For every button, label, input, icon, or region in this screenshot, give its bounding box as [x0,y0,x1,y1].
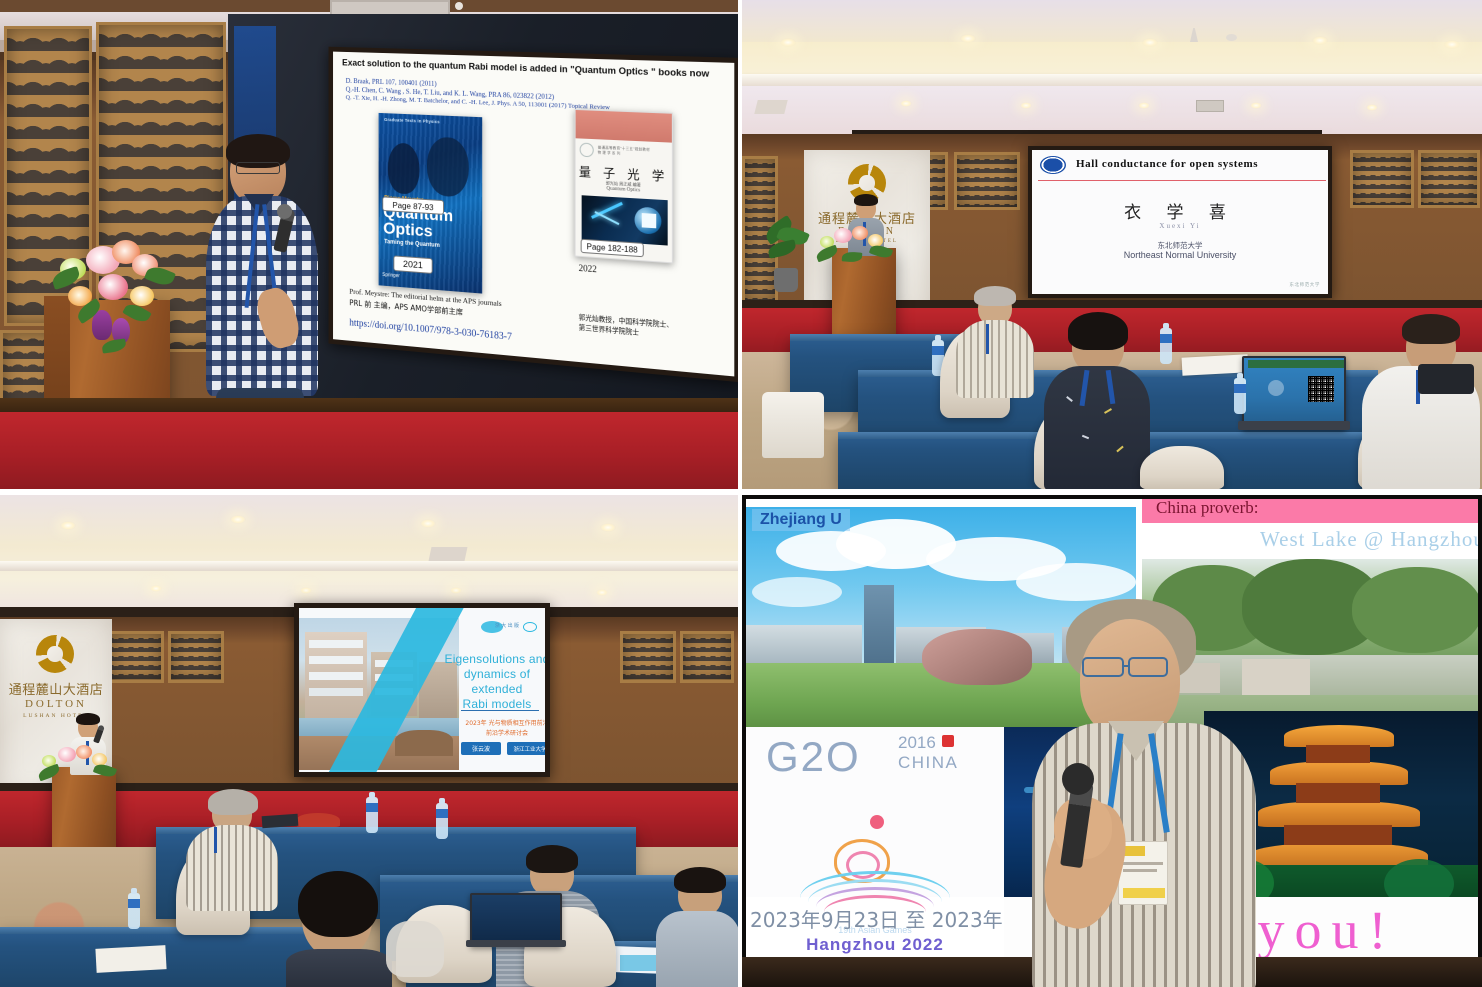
panel-top-left: Exact solution to the quantum Rabi model… [0,0,738,489]
slide-eigensolutions: 浙 大 出 版 Eigensolutions and dynamics of e… [299,608,545,772]
laptop-base [1238,421,1350,430]
water-bottle-4 [1234,378,1246,414]
label-china-proverb: China proverb: [1156,499,1258,518]
g20-logo-text: G2O [766,733,861,781]
glasses-icon [236,162,280,174]
stage-edge [0,398,738,412]
slide-tag-2: 浙江工业大学 [507,742,545,755]
photo-collage: Exact solution to the quantum Rabi model… [0,0,1482,987]
laptop-1[interactable] [1242,356,1346,430]
hotel-name-en-2: DOLTON [0,698,112,710]
red-fan-prop [296,813,340,827]
water-bottle-bl-3 [128,893,140,929]
ceiling-vent-3 [754,100,787,114]
brochure [620,955,660,971]
flower-arrangement-2 [814,226,898,270]
audience-2-hair [1068,312,1128,350]
slide-quantum-rabi: Exact solution to the quantum Rabi model… [333,52,734,377]
smoke-detector-icon-2 [1226,34,1237,41]
microphone-3-head [1062,763,1094,795]
laptop-screen [1244,358,1344,424]
glasses-icon-2 [1082,657,1124,677]
year-badge-left: 2021 [393,255,432,274]
slide-title: Exact solution to the quantum Rabi model… [342,58,734,81]
slide-subtitle-cn-2: 前沿学术研讨会 [459,728,545,737]
audience-bl-2 [272,867,404,987]
slide-footer: 东北师范大学 [1289,282,1320,288]
audience-bl-1-hair [208,789,258,815]
panel-bottom-left: 通程麓山大酒店 DOLTON LUSHAN HOTEL [0,489,738,987]
qr-code [1308,376,1334,402]
slide-hall-conductance: Hall conductance for open systems 衣 学 喜 … [1032,150,1328,294]
campus-rock [922,629,1032,685]
slide-doi-link[interactable]: https://doi.org/10.1007/978-3-030-76183-… [349,318,512,343]
slide-author-cn: 衣 学 喜 [1032,198,1328,223]
smoke-detector-icon [455,2,463,10]
university-logo-icon [1040,156,1066,174]
label-zhejiang-u: Zhejiang U [752,509,850,531]
slide-tag-1: 张云波 [461,742,501,755]
g20-year: 2016 [898,733,936,753]
flower-arrangement [46,240,206,380]
slide-title-line-1: Eigensolutions and [444,652,545,666]
flower-arrangement-3 [36,745,122,789]
water-bottle-bl-2 [436,803,448,839]
audience-bl-1 [186,791,278,911]
slide-title-line-2: dynamics of extended [464,667,530,696]
projection-screen-2: Hall conductance for open systems 衣 学 喜 … [1028,146,1332,298]
audience-bl-4 [656,873,738,987]
book-title-line-2: Optics [383,220,432,240]
slide-divider-2 [461,710,539,711]
audience-person-1 [956,290,1034,400]
camera-bag [1418,364,1474,394]
audience-person-2 [1044,318,1150,489]
pagoda-structure [1254,725,1424,875]
hotel-name-cn-2: 通程麓山大酒店 [0,679,112,698]
conference-logo-icon [523,622,537,632]
laptop-2[interactable] [470,893,562,947]
label-west-lake: West Lake @ Hangzhou [1260,527,1478,552]
ceiling-vent-2 [1196,100,1224,112]
glasses-icon-2-right [1128,657,1168,677]
red-carpet [0,412,738,489]
microphone-head [277,204,292,219]
projection-screen-3: 浙 大 出 版 Eigensolutions and dynamics of e… [294,603,550,777]
audience-bl-2-hair [298,871,378,937]
chair-4 [1140,446,1224,489]
asian-games-city: Hangzhou 2022 [746,935,1004,955]
water-bottle-bl-1 [366,797,378,833]
projection-screen: Exact solution to the quantum Rabi model… [329,47,738,382]
slide-author-en: Xuexi Yi [1032,222,1328,230]
white-draped-table [762,392,824,458]
slide-subtitle-cn-1: 2023年 光与物质相互作用前沿 [459,718,545,727]
g20-panel: G2O 2016 CHINA 19th Asian Games Hangzhou… [746,727,1004,897]
potted-plant [762,222,808,292]
speaker-person-2 [1032,605,1262,987]
panel-bottom-right: Zhejiang U China proverb: West Lake @ Ha… [738,489,1482,987]
audience-person-3 [1362,320,1480,489]
china-seal-icon [942,735,954,747]
audience-1-hair [974,286,1016,306]
asian-games-seal-icon [870,815,884,829]
publisher-seal-icon [580,143,594,158]
slide-title-hall: Hall conductance for open systems [1076,158,1258,170]
paper-sheet-1 [95,945,166,973]
panel-top-right: 通程麓山大酒店 DOLTON LUSHAN HOTEL Hall conduct… [738,0,1482,489]
slide-affiliation-en: Northeast Normal University [1032,250,1328,260]
slide-title-line-3: Rabi models [463,697,532,711]
year-label-right: 2022 [579,263,597,274]
hotel-logo-icon-2 [36,635,74,673]
slide-divider [1038,180,1326,181]
water-bottle-2 [1160,328,1172,364]
g20-country: CHINA [898,753,958,773]
ceiling-vent-4 [429,547,468,561]
plastic-bag [386,921,444,977]
